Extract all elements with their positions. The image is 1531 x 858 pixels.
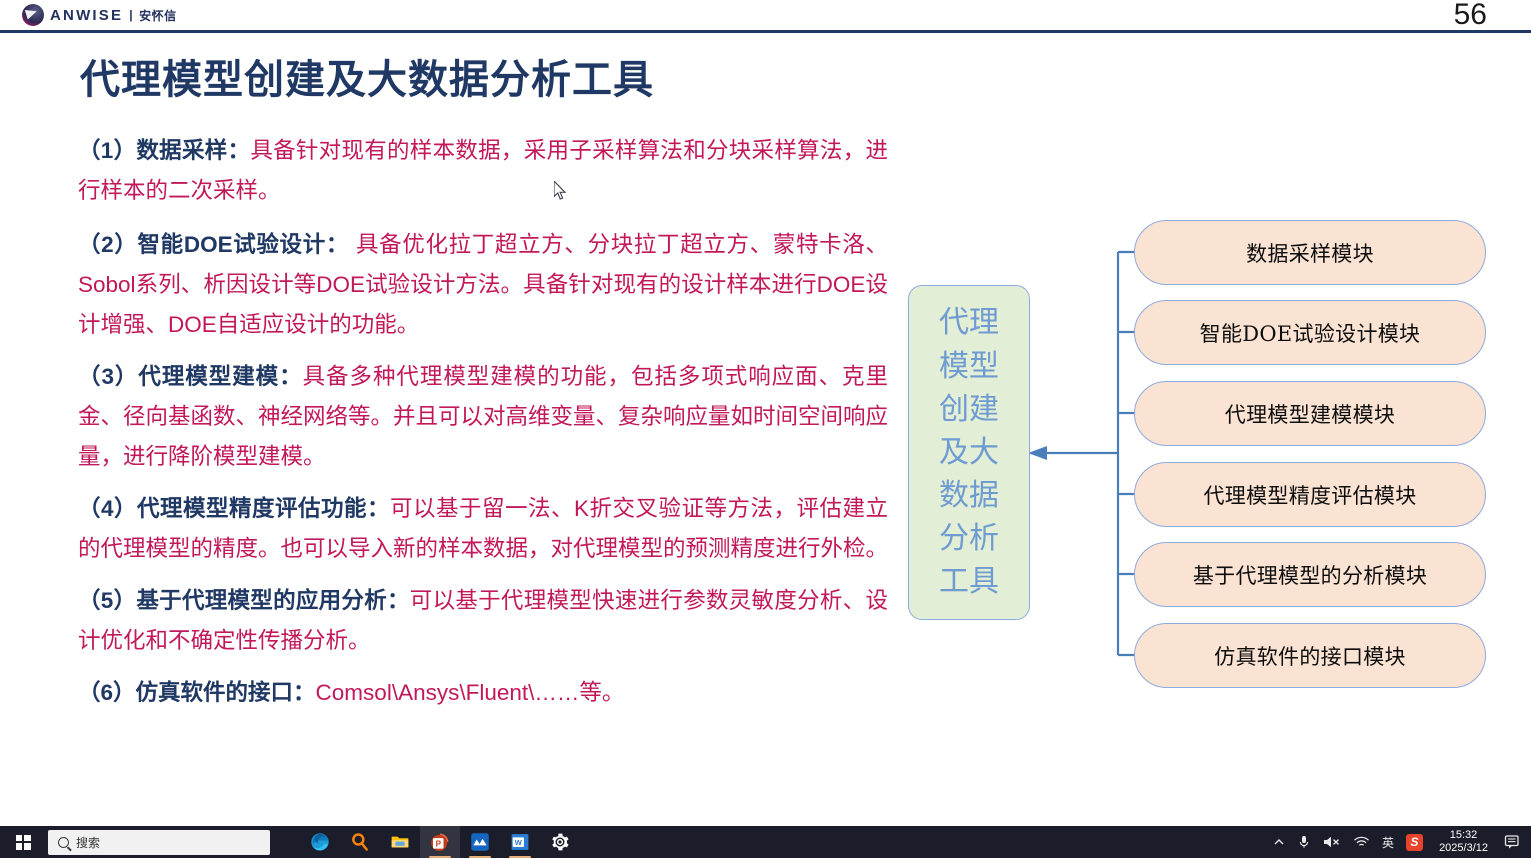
root-char-group-3: 创建: [939, 388, 999, 431]
bullet-number-4: （4）: [78, 496, 137, 521]
search-placeholder-text: 搜索: [76, 834, 100, 851]
root-char-group-1: 代理: [939, 301, 999, 344]
edge-icon: [310, 832, 330, 852]
brand-logo: ANWISE | 安怀信: [22, 4, 177, 26]
windows-taskbar: 搜索: [0, 826, 1531, 858]
search-highlight-icon: [350, 832, 370, 852]
root-char-group-5: 数据: [939, 474, 999, 517]
file-explorer-icon: [390, 832, 410, 852]
root-text-row-4: 及大: [939, 431, 999, 474]
bullet-sep-3: ：: [279, 364, 302, 389]
diagram-module-node-5: 基于代理模型的分析模块: [1134, 542, 1486, 607]
taskbar-app-powerpoint[interactable]: P: [420, 826, 460, 858]
bullet-sep-5: ：: [387, 588, 410, 613]
module-label-5: 基于代理模型的分析模块: [1193, 560, 1427, 590]
tray-notifications[interactable]: [1498, 826, 1527, 858]
powerpoint-icon: P: [430, 832, 450, 852]
page-title: 代理模型创建及大数据分析工具: [80, 58, 654, 102]
diagram-module-node-4: 代理模型精度评估模块: [1134, 462, 1486, 527]
root-text-row-3: 创建: [939, 388, 999, 431]
sogou-logo-icon: S: [1406, 834, 1423, 851]
bullet-number-6: （6）: [78, 680, 136, 705]
header-divider: [0, 30, 1531, 33]
tray-network[interactable]: [1347, 826, 1376, 858]
bullet-paragraph-3: （3）代理模型建模：具备多种代理模型建模的功能，包括多项式响应面、克里金、径向基…: [78, 357, 888, 477]
root-text-row-2: 模型: [939, 345, 999, 388]
tray-volume[interactable]: [1317, 826, 1347, 858]
tray-sogou-ime[interactable]: S: [1400, 826, 1429, 858]
tray-ime-indicator[interactable]: 英: [1376, 826, 1400, 858]
word-icon: W: [510, 832, 530, 852]
bullet-sep-2: ：: [326, 232, 349, 257]
bullet-number-1: （1）: [78, 138, 136, 163]
taskbar-app-icons: P W: [300, 826, 580, 858]
diagram-module-node-3: 代理模型建模模块: [1134, 381, 1486, 446]
bullet-lead-1: 数据采样: [136, 138, 227, 163]
windows-logo-icon: [16, 835, 31, 850]
module-diagram: 代理 模型 创建 及大 数据 分析 工具: [900, 205, 1520, 705]
bullet-lead-5: 基于代理模型的应用分析: [136, 588, 387, 613]
page-number: 56: [1454, 0, 1487, 32]
bullet-number-3: （3）: [78, 364, 138, 389]
bullet-lead-6: 仿真软件的接口: [136, 680, 294, 705]
clock-date: 2025/3/12: [1439, 842, 1488, 855]
root-char-group-7: 工具: [939, 560, 999, 603]
diagram-module-node-1: 数据采样模块: [1134, 220, 1486, 285]
screen: ANWISE | 安怀信 56 代理模型创建及大数据分析工具 （1）数据采样：具…: [0, 0, 1531, 858]
module-label-3: 代理模型建模模块: [1225, 399, 1395, 429]
bullet-lead-2: 智能DOE试验设计: [138, 232, 326, 257]
module-label-2: 智能DOE试验设计模块: [1200, 318, 1421, 348]
bullet-number-5: （5）: [78, 588, 136, 613]
anwise-logo-icon: [22, 4, 44, 26]
svg-text:P: P: [436, 839, 442, 848]
root-text-row-6: 分析: [939, 517, 999, 560]
root-text-row-1: 代理: [939, 301, 999, 344]
taskbar-app-search[interactable]: [340, 826, 380, 858]
module-label-6: 仿真软件的接口模块: [1214, 641, 1406, 671]
wifi-icon: [1353, 835, 1370, 849]
microphone-icon: [1297, 834, 1311, 850]
bullet-sep-4: ：: [367, 496, 390, 521]
taskbar-app-edge[interactable]: [300, 826, 340, 858]
bullet-text-6: Comsol\Ansys\Fluent\……等。: [316, 680, 625, 705]
taskbar-app-blue[interactable]: [460, 826, 500, 858]
slide-header: ANWISE | 安怀信 56: [0, 0, 1531, 30]
module-label-1: 数据采样模块: [1246, 238, 1374, 268]
system-tray: 英 S 15:32 2025/3/12: [1267, 826, 1531, 858]
settings-gear-icon: [550, 832, 570, 852]
bullet-paragraph-4: （4）代理模型精度评估功能：可以基于留一法、K折交叉验证等方法，评估建立的代理模…: [78, 489, 888, 569]
bullet-paragraph-2: （2）智能DOE试验设计： 具备优化拉丁超立方、分块拉丁超立方、蒙特卡洛、Sob…: [78, 225, 888, 345]
bullet-number-2: （2）: [78, 232, 138, 257]
logo-wordmark: ANWISE: [50, 7, 123, 24]
bullet-paragraph-6: （6）仿真软件的接口：Comsol\Ansys\Fluent\……等。: [78, 673, 888, 713]
bullet-lead-3: 代理模型建模: [138, 364, 279, 389]
content-body: （1）数据采样：具备针对现有的样本数据，采用子采样算法和分块采样算法，进行样本的…: [78, 131, 888, 713]
tray-microphone[interactable]: [1291, 826, 1317, 858]
root-char-group-4: 及大: [939, 431, 999, 474]
slide-canvas: ANWISE | 安怀信 56 代理模型创建及大数据分析工具 （1）数据采样：具…: [0, 0, 1531, 826]
taskbar-app-file-explorer[interactable]: [380, 826, 420, 858]
module-label-4: 代理模型精度评估模块: [1204, 480, 1417, 510]
logo-divider: |: [129, 8, 133, 22]
taskbar-search-box[interactable]: 搜索: [48, 830, 270, 855]
svg-text:W: W: [515, 838, 523, 847]
notification-icon: [1504, 834, 1521, 850]
tray-clock[interactable]: 15:32 2025/3/12: [1429, 826, 1498, 858]
diagram-module-node-6: 仿真软件的接口模块: [1134, 623, 1486, 688]
root-char-group-6: 分析: [939, 517, 999, 560]
taskbar-app-settings[interactable]: [540, 826, 580, 858]
bullet-sep-1: ：: [228, 138, 251, 163]
volume-muted-icon: [1323, 835, 1341, 849]
logo-chinese-name: 安怀信: [139, 7, 177, 24]
root-char-group-2: 模型: [939, 345, 999, 388]
diagram-root-node: 代理 模型 创建 及大 数据 分析 工具: [908, 285, 1030, 620]
taskbar-app-word[interactable]: W: [500, 826, 540, 858]
bullet-sep-6: ：: [293, 680, 316, 705]
root-text-row-7: 工具: [939, 560, 999, 603]
diagram-module-node-2: 智能DOE试验设计模块: [1134, 300, 1486, 365]
app-blue-icon: [470, 832, 490, 852]
start-button[interactable]: [0, 826, 46, 858]
search-icon: [58, 837, 69, 848]
root-text-row-5: 数据: [939, 474, 999, 517]
tray-overflow-button[interactable]: [1267, 826, 1291, 858]
clock-time: 15:32: [1450, 829, 1478, 842]
bullet-lead-4: 代理模型精度评估功能: [137, 496, 367, 521]
chevron-up-icon: [1273, 836, 1285, 848]
bullet-paragraph-1: （1）数据采样：具备针对现有的样本数据，采用子采样算法和分块采样算法，进行样本的…: [78, 131, 888, 211]
bullet-paragraph-5: （5）基于代理模型的应用分析：可以基于代理模型快速进行参数灵敏度分析、设计优化和…: [78, 581, 888, 661]
